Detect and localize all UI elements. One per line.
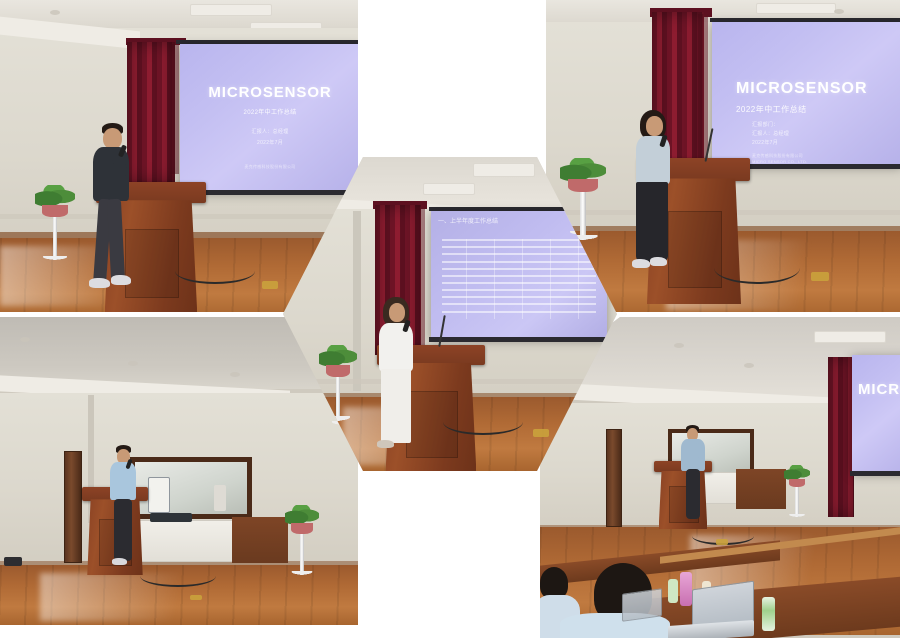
ceiling-light [230, 372, 240, 377]
legs [381, 369, 411, 443]
floor-tape [533, 429, 549, 437]
ceiling-panel [814, 331, 886, 343]
table-column [550, 239, 551, 318]
ceiling-light [128, 361, 138, 366]
legs-skirt [636, 182, 668, 262]
laptop-screen-second [622, 588, 662, 622]
scene-top-right: MICROSENSOR 2022年中工作总结 汇报部门： 汇报人：总经理 202… [546, 0, 900, 312]
slide-line1: 汇报部门： [752, 121, 900, 128]
plant-stand [285, 505, 319, 575]
table-column [466, 239, 467, 318]
stand-leg [300, 534, 304, 575]
door [64, 451, 82, 563]
floor-cable [443, 409, 523, 435]
table-row [442, 239, 597, 241]
ceiling-light [50, 10, 60, 15]
shoe [89, 278, 110, 288]
flower-pot [291, 523, 313, 534]
ceiling-light [834, 9, 844, 14]
ceiling-light [744, 363, 754, 368]
ceiling-light [20, 337, 30, 342]
photo-bottom-left [0, 317, 358, 625]
table-row [442, 261, 597, 263]
table-row [442, 296, 597, 298]
stand-foot [290, 571, 314, 575]
equipment [214, 485, 226, 511]
thermos-bottle [680, 572, 692, 606]
ceiling-panel [190, 4, 272, 16]
table-column [578, 239, 579, 318]
table-row [442, 253, 597, 255]
slide-subtitle: 2022年中工作总结 [180, 107, 358, 116]
table-row [442, 311, 597, 313]
flower-pot [326, 365, 350, 377]
slide-line2: 汇报人：总经理 [752, 130, 900, 137]
photo-collage: MICROSENSOR 2022年中工作总结 汇报人：总经理 2022年7月 麦… [0, 0, 900, 638]
water-bottle [762, 597, 775, 631]
floor-cable [714, 252, 800, 284]
ceiling-light [674, 343, 684, 348]
head [103, 128, 122, 149]
slide-brand-partial: MICROSENSOR [858, 381, 900, 398]
slide-brand: MICROSENSOR [736, 80, 900, 98]
floor-tape [716, 539, 728, 545]
screen-bottom-bar [850, 471, 900, 476]
table-row [442, 282, 597, 284]
slide-subtitle: 2022年中工作总结 [736, 104, 900, 115]
shoe [112, 558, 127, 565]
table-column [522, 239, 523, 318]
table-row [442, 303, 597, 305]
flower-pot [568, 179, 597, 192]
floor-cable [140, 565, 216, 587]
plant-stand [35, 185, 75, 260]
photo-top-left: MICROSENSOR 2022年中工作总结 汇报人：总经理 2022年7月 麦… [0, 0, 358, 312]
slide-line3: 2022年7月 [180, 139, 358, 146]
screen-bottom-bar [429, 337, 607, 342]
door [606, 429, 622, 527]
presenter-male [86, 123, 142, 303]
desk-equipment [150, 513, 192, 522]
water-bottle [668, 579, 678, 603]
slide-data-table [442, 239, 597, 318]
ceiling-panel [756, 3, 836, 14]
photo-top-right: MICROSENSOR 2022年中工作总结 汇报部门： 汇报人：总经理 202… [546, 0, 900, 312]
floor-tape [811, 272, 829, 281]
projection-screen: MICROSENSOR [852, 355, 900, 473]
shoe [377, 440, 394, 448]
monitor [148, 477, 170, 513]
stand-leg [53, 217, 58, 261]
presenter-male-blue-shirt [680, 425, 710, 525]
stand-leg [336, 377, 341, 421]
table-row [442, 268, 597, 270]
shoe [650, 257, 667, 266]
legs [107, 199, 125, 282]
shoe [632, 259, 650, 268]
stand-leg [795, 487, 798, 517]
table-row [442, 275, 597, 277]
photo-bottom-right: MICROSENSOR [540, 317, 900, 638]
scene-bottom-right: MICROSENSOR [540, 317, 900, 638]
slide-table-title: 一、上半年度工作总结 [438, 216, 498, 225]
head [389, 303, 405, 322]
shoe [111, 275, 131, 285]
slide-line3: 2022年7月 [752, 139, 900, 146]
legs [686, 469, 700, 519]
floor-tape [190, 595, 202, 600]
ceiling-panel [473, 163, 535, 177]
stand-foot [41, 256, 70, 261]
stand-leg [580, 192, 586, 240]
scene-bottom-left [0, 317, 358, 625]
reception-cabinet [138, 520, 234, 562]
presenter-male-blue-shirt [108, 445, 144, 575]
presenter-female [630, 110, 680, 280]
projection-screen: MICROSENSOR 2022年中工作总结 汇报人：总经理 2022年7月 麦… [180, 44, 358, 192]
reception-desk-wood [232, 517, 288, 563]
table-row [442, 289, 597, 291]
reception-desk-wood [736, 469, 786, 509]
table-column [494, 239, 495, 318]
flower-pot [789, 479, 806, 487]
slide-footer: 麦克传感科技股份有限公司 [180, 164, 358, 170]
floor-tape [262, 281, 278, 289]
curtain [170, 44, 179, 174]
ceiling-panel [423, 183, 475, 195]
plant-stand [784, 465, 810, 517]
floor-cable [175, 258, 255, 284]
curtain [828, 357, 854, 517]
floor-equipment-box [4, 557, 22, 566]
stand-foot [788, 514, 807, 517]
slide-line2: 汇报人：总经理 [180, 128, 358, 135]
slide-brand: MICROSENSOR [180, 84, 358, 101]
head [646, 116, 663, 136]
projection-screen: MICROSENSOR 2022年中工作总结 汇报部门： 汇报人：总经理 202… [712, 22, 900, 166]
table-row [442, 246, 597, 248]
presenter-female-white [375, 297, 423, 459]
scene-top-left: MICROSENSOR 2022年中工作总结 汇报人：总经理 2022年7月 麦… [0, 0, 358, 312]
flower-pot [42, 205, 68, 217]
legs [114, 499, 132, 561]
